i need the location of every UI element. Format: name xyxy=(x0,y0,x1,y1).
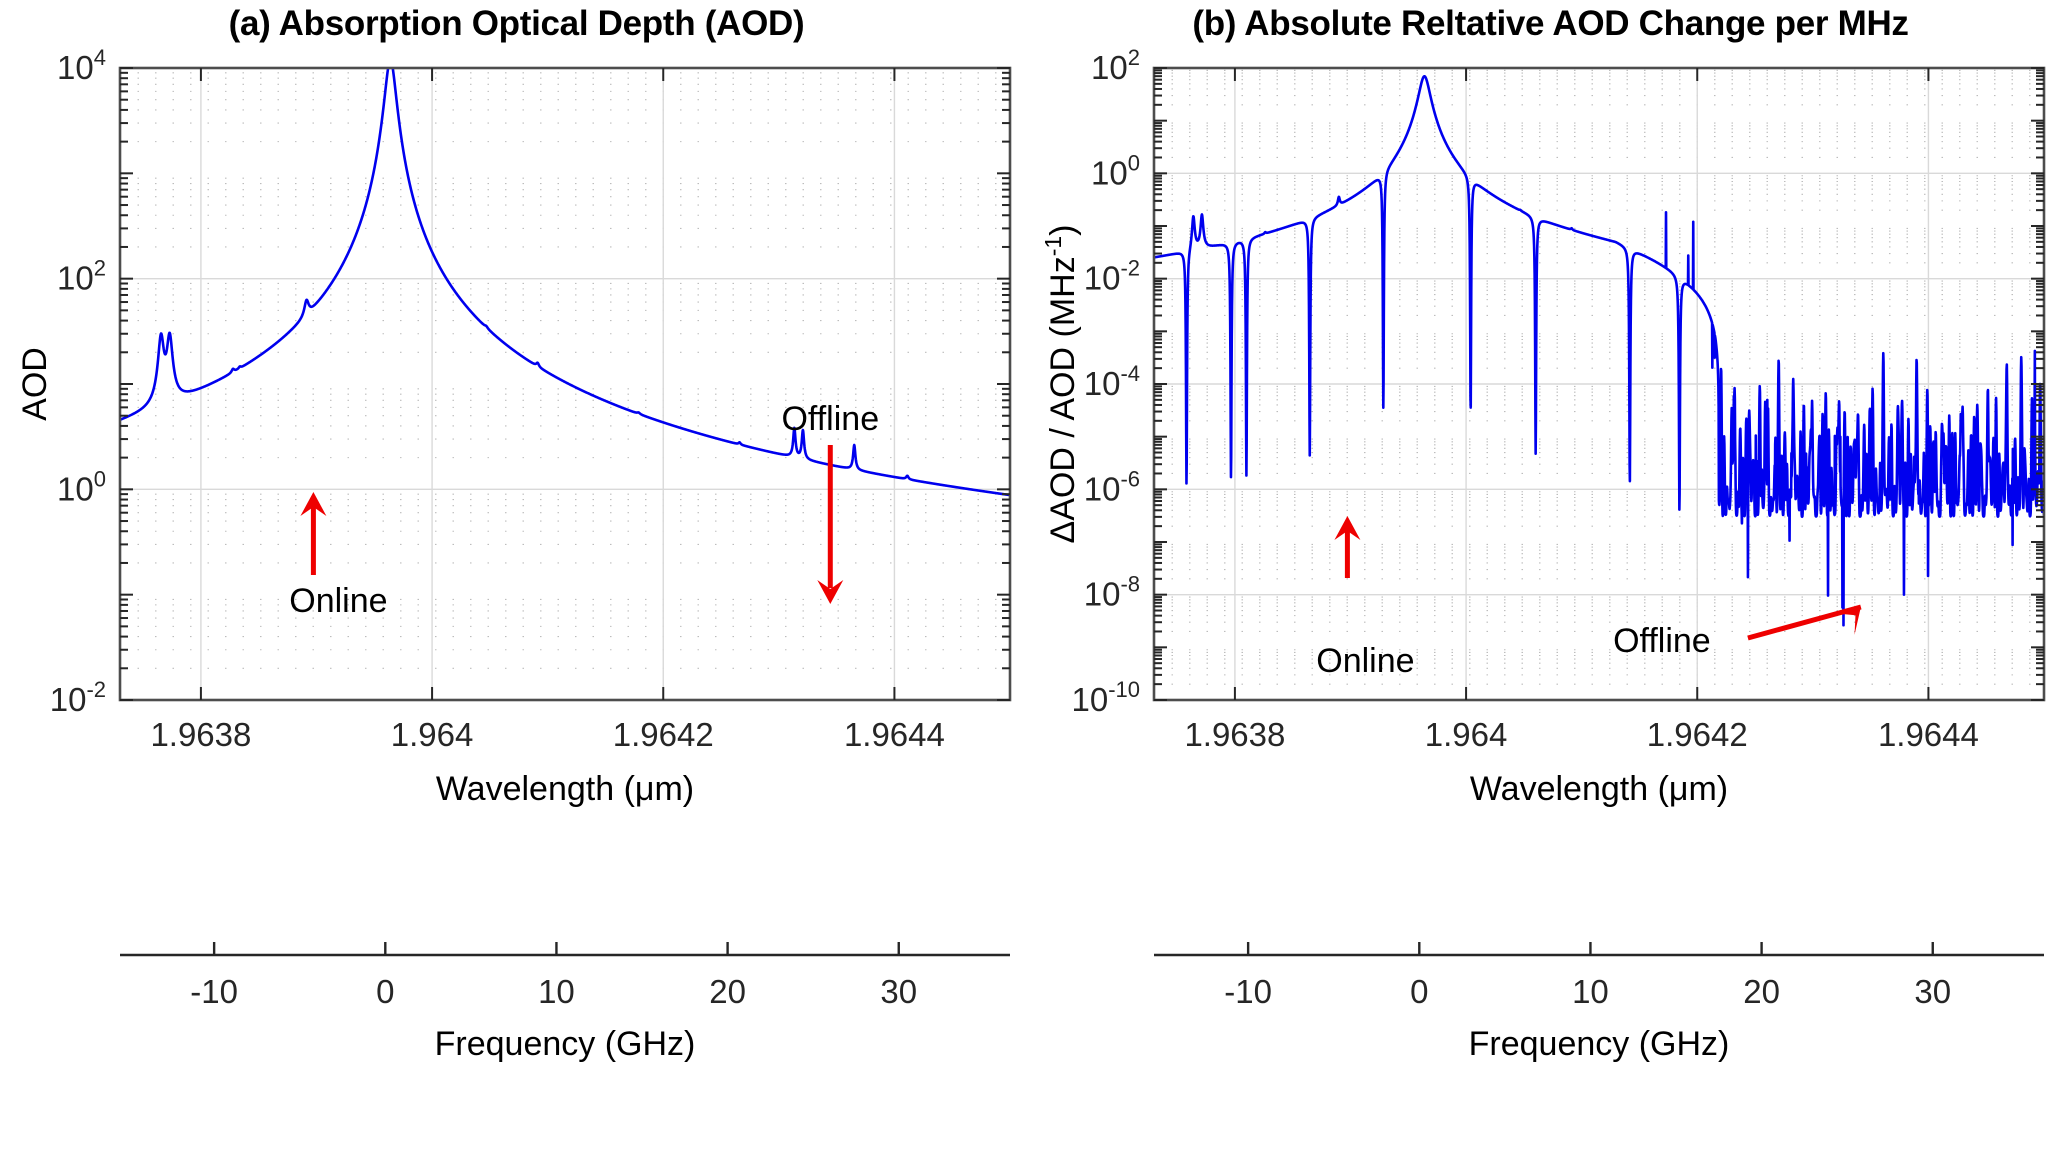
panel-a: (a) Absorption Optical Depth (AOD) 10-21… xyxy=(0,0,1033,1155)
x-wavelength-tick-labels: 1.96381.9641.96421.9644 xyxy=(150,716,944,753)
frequency-tick-label: -10 xyxy=(190,973,238,1010)
y-tick-label: 104 xyxy=(57,45,106,86)
y-tick-label: 10-6 xyxy=(1084,466,1140,507)
svg-text:100: 100 xyxy=(1091,150,1140,191)
panel-b-plot: 10-1010-810-610-410-21001021.96381.9641.… xyxy=(1034,0,2067,1155)
svg-text:10-2: 10-2 xyxy=(1084,256,1140,297)
svg-text:10-6: 10-6 xyxy=(1084,466,1140,507)
y-tick-label: 10-4 xyxy=(1084,361,1140,402)
x-axis-title-frequency: Frequency (GHz) xyxy=(435,1025,696,1063)
offline-annotation-label: Offline xyxy=(781,400,879,438)
frequency-tick-label: 20 xyxy=(709,973,746,1010)
frequency-tick-label: 30 xyxy=(880,973,917,1010)
x-tick-label: 1.9642 xyxy=(1647,716,1748,753)
x-tick-label: 1.9642 xyxy=(613,716,714,753)
frequency-axis: -100102030Frequency (GHz) xyxy=(120,942,1010,1063)
svg-text:10-10: 10-10 xyxy=(1071,677,1140,718)
x-axis-title-wavelength: Wavelength (μm) xyxy=(436,770,694,808)
y-tick-label: 102 xyxy=(57,256,106,297)
y-axis-title: AOD xyxy=(16,347,54,421)
x-tick-label: 1.9644 xyxy=(844,716,945,753)
frequency-tick-label: 10 xyxy=(1572,973,1609,1010)
panel-a-plot: 10-21001021041.96381.9641.96421.9644Wave… xyxy=(0,0,1033,1155)
x-axis-title-wavelength: Wavelength (μm) xyxy=(1470,770,1728,808)
svg-text:10-8: 10-8 xyxy=(1084,572,1140,613)
frequency-axis: -100102030Frequency (GHz) xyxy=(1154,942,2044,1063)
y-axis-title: ΔAOD / AOD (MHz-1) xyxy=(1040,225,1082,544)
y-tick-label: 100 xyxy=(1091,150,1140,191)
plot-background xyxy=(120,68,1010,700)
x-axis-title-frequency: Frequency (GHz) xyxy=(1469,1025,1730,1063)
online-annotation-label: Online xyxy=(289,582,387,620)
y-tick-label: 10-2 xyxy=(50,677,106,718)
frequency-tick-label: 30 xyxy=(1914,973,1951,1010)
y-tick-label: 102 xyxy=(1091,45,1140,86)
y-tick-labels: 10-2100102104 xyxy=(50,45,106,718)
frequency-tick-label: 20 xyxy=(1743,973,1780,1010)
frequency-tick-label: -10 xyxy=(1224,973,1272,1010)
online-annotation-label: Online xyxy=(1316,642,1414,680)
frequency-tick-label: 0 xyxy=(376,973,394,1010)
svg-text:100: 100 xyxy=(57,466,106,507)
svg-text:102: 102 xyxy=(57,256,106,297)
panel-a-svg: 10-21001021041.96381.9641.96421.9644Wave… xyxy=(0,0,1033,1155)
y-tick-label: 10-8 xyxy=(1084,572,1140,613)
y-tick-label: 10-10 xyxy=(1071,677,1140,718)
x-tick-label: 1.964 xyxy=(1425,716,1508,753)
svg-text:10-2: 10-2 xyxy=(50,677,106,718)
y-tick-label: 100 xyxy=(57,466,106,507)
svg-text:104: 104 xyxy=(57,45,106,86)
x-tick-label: 1.9644 xyxy=(1878,716,1979,753)
figure-root: (a) Absorption Optical Depth (AOD) 10-21… xyxy=(0,0,2067,1155)
x-tick-label: 1.9638 xyxy=(150,716,251,753)
svg-text:10-4: 10-4 xyxy=(1084,361,1140,402)
panel-b-svg: 10-1010-810-610-410-21001021.96381.9641.… xyxy=(1034,0,2067,1155)
svg-text:102: 102 xyxy=(1091,45,1140,86)
x-wavelength-tick-labels: 1.96381.9641.96421.9644 xyxy=(1184,716,1978,753)
frequency-tick-label: 10 xyxy=(538,973,575,1010)
offline-annotation-label: Offline xyxy=(1613,622,1711,660)
panel-b: (b) Absolute Reltative AOD Change per MH… xyxy=(1034,0,2067,1155)
x-tick-label: 1.964 xyxy=(391,716,474,753)
y-tick-label: 10-2 xyxy=(1084,256,1140,297)
frequency-tick-label: 0 xyxy=(1410,973,1428,1010)
x-tick-label: 1.9638 xyxy=(1184,716,1285,753)
